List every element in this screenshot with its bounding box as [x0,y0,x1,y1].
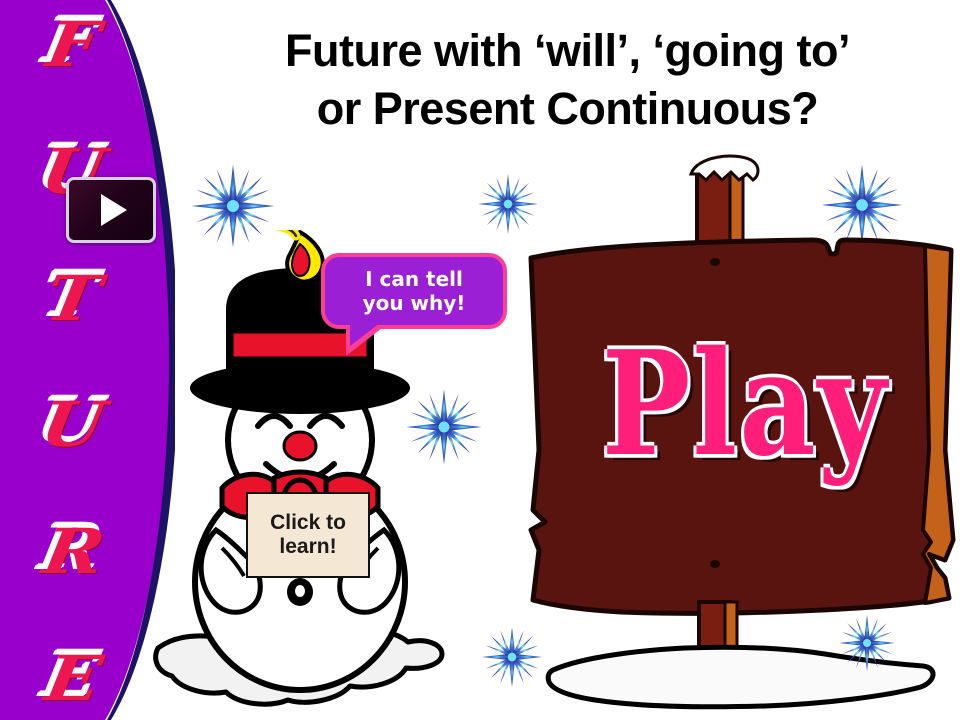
sidebar-wordmark: F U T U R E [0,0,145,720]
sidebar-letter-e: E [41,648,104,710]
speech-bubble-tail [350,320,384,346]
sidebar-letter-f: F [43,14,102,76]
sidebar: F U T U R E [0,0,175,720]
click-to-learn-label: Click to learn! [270,511,346,558]
wooden-play-sign[interactable] [525,150,960,720]
page-title: Future with ‘will’, ‘going to’ or Presen… [180,22,955,137]
sidebar-letter-r: R [39,521,107,583]
speech-bubble-text: I can tell you why! [363,267,466,315]
click-to-learn-sign[interactable]: Click to learn! [246,492,370,578]
sidebar-letter-t: T [42,268,104,330]
speech-bubble: I can tell you why! [321,253,507,329]
play-triangle-icon [101,194,127,226]
slide-canvas: Play [0,0,960,720]
play-button[interactable] [66,177,156,243]
sidebar-letter-u2: U [37,394,108,456]
